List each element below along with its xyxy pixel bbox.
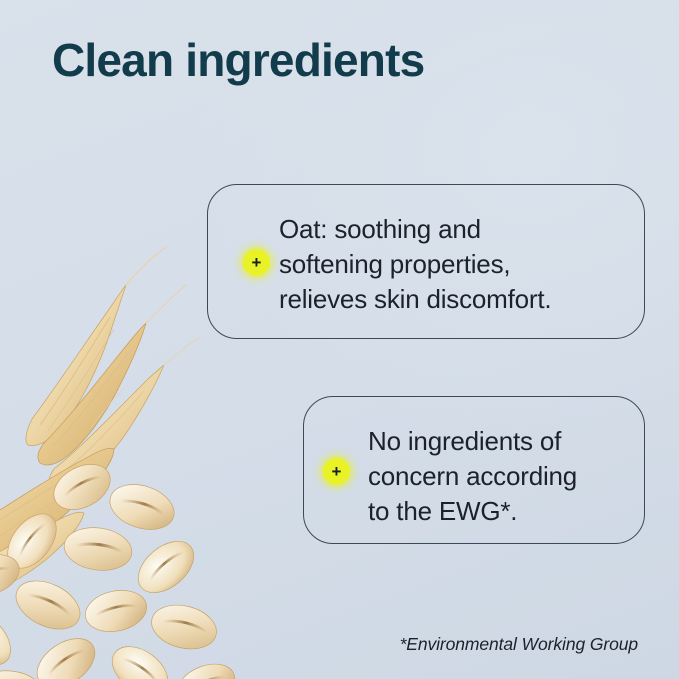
page-title: Clean ingredients [52, 32, 612, 88]
ewg-text: No ingredients of concern according to t… [368, 424, 648, 529]
ewg-card: + No ingredients of concern according to… [303, 396, 645, 544]
plus-icon: + [243, 249, 270, 276]
oat-benefit-text: Oat: soothing and softening properties, … [279, 212, 639, 317]
background-gradient [0, 0, 679, 679]
footnote-text: *Environmental Working Group [400, 633, 638, 655]
product-infographic-canvas: Clean ingredients + Oat: soothing and so… [0, 0, 679, 679]
plus-icon: + [323, 458, 350, 485]
oat-benefit-card: + Oat: soothing and softening properties… [207, 184, 645, 339]
